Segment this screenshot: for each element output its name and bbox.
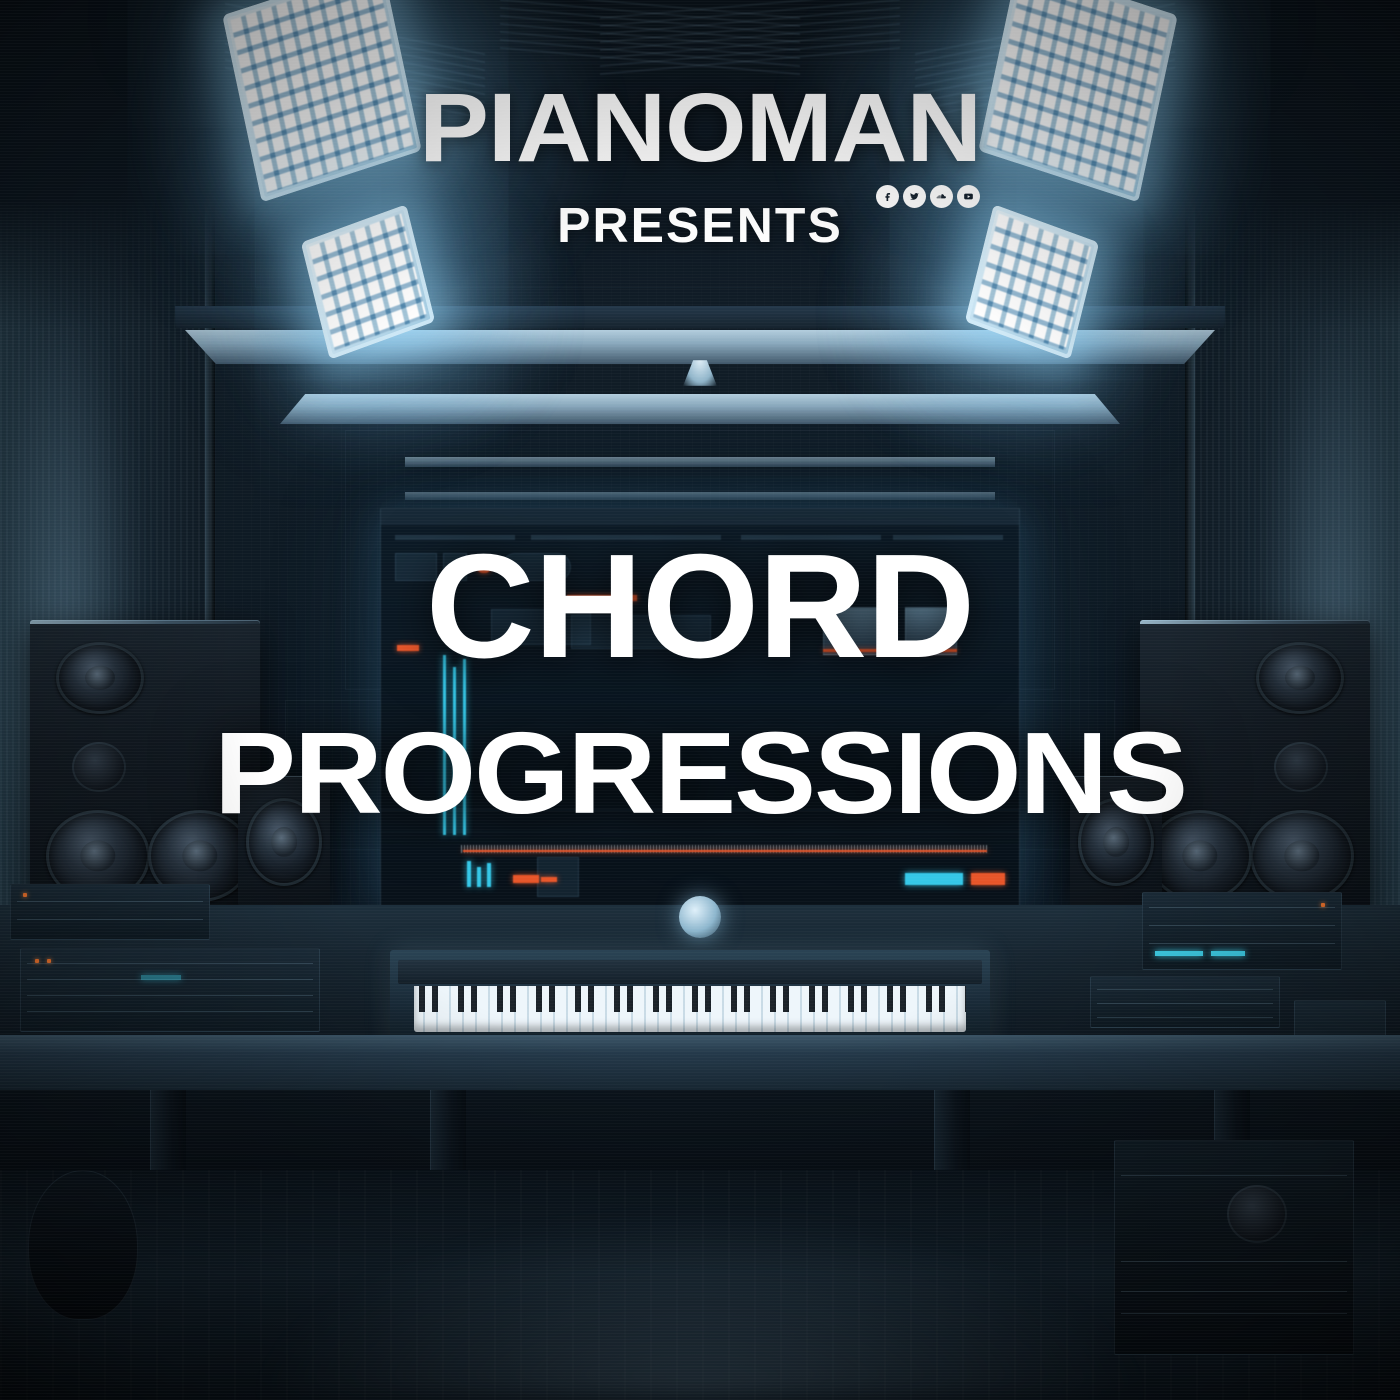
outboard-rack-left (20, 948, 320, 1032)
outboard-rack-right (1142, 892, 1342, 970)
floor-light-reflection (250, 1210, 1150, 1400)
ceiling-diffuser-2 (280, 394, 1120, 424)
floor-rack-unit (1114, 1140, 1354, 1355)
title-line-2: PROGRESSIONS (0, 715, 1400, 831)
outboard-rack-left-2 (10, 884, 210, 940)
brand-logo: PIANOMAN (0, 83, 1400, 173)
midi-controller-right (1090, 976, 1280, 1028)
title-line-1: CHORD (0, 533, 1400, 681)
console-master-knob[interactable] (679, 896, 721, 938)
presents-label: PRESENTS (0, 198, 1400, 254)
console-desk-top (0, 1035, 1400, 1097)
poster-canvas: PIANOMAN PRESENTS CHORD PROGRESSIONS (0, 0, 1400, 1400)
floor-cable-reel (28, 1170, 138, 1320)
ceiling-diffuser-4 (405, 492, 995, 500)
midi-keyboard-controller[interactable] (390, 950, 990, 1042)
ceiling-diffuser-3 (405, 457, 995, 467)
brand-logo-text: PIANOMAN (419, 74, 981, 182)
